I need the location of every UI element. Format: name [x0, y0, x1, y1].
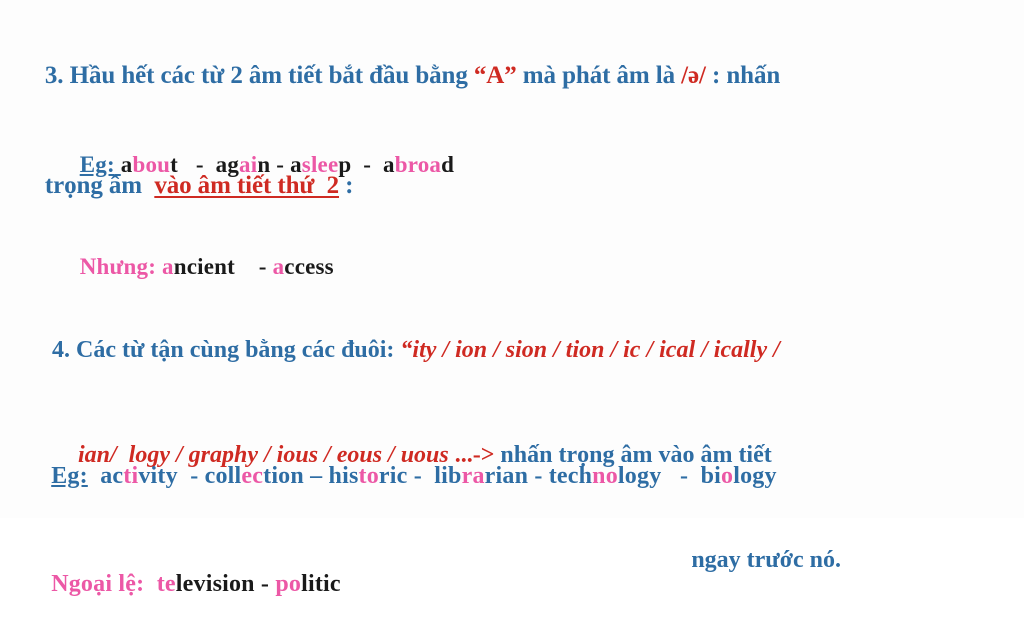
section-4-line-1: 4. Các từ tận cùng bằng các đuôi: “ity /…: [16, 298, 1016, 403]
section-3-text-a: Hầu hết các từ 2 âm tiết bắt đầu bằng: [63, 62, 473, 89]
section-4-example-words-1: activity - collection – historic - libra…: [100, 463, 776, 489]
eg-label-2: Eg:: [51, 463, 88, 489]
text-run: -: [178, 152, 216, 177]
text-run: p: [338, 152, 351, 177]
section-3-example-words-2: ancient - access: [162, 254, 334, 279]
text-run: -: [351, 152, 383, 177]
text-run: lib: [434, 463, 461, 489]
text-run: po: [275, 571, 301, 597]
text-run: ra: [462, 463, 485, 489]
section-3-text-c: : nhấn: [706, 62, 780, 89]
text-run: ric: [379, 463, 408, 489]
text-run: logy: [618, 463, 661, 489]
ngoaile-label: Ngoại lệ:: [51, 571, 144, 597]
nhung-label: Nhưng:: [80, 254, 156, 279]
section-4-number: 4.: [52, 337, 70, 363]
section-4-text-a: Các từ tận cùng bằng các đuôi:: [70, 337, 400, 363]
text-run: te: [157, 571, 176, 597]
section-3-examples: Eg: about - again - asleep - abroad Nhưn…: [44, 114, 454, 318]
text-run: d: [441, 152, 454, 177]
text-run: -: [178, 463, 205, 489]
section-3-number: 3.: [45, 62, 64, 89]
text-run: his: [329, 463, 359, 489]
eg-label-1: Eg:: [80, 152, 115, 177]
text-run: –: [304, 463, 329, 489]
section-3-text-b: mà phát âm là: [517, 62, 681, 89]
text-run: ccess: [284, 254, 334, 279]
text-run: logy: [733, 463, 776, 489]
text-run: a: [162, 254, 174, 279]
text-run: ac: [100, 463, 123, 489]
section-3-example-row-1: Eg: about - again - asleep - abroad: [44, 114, 454, 216]
text-run: -: [270, 152, 290, 177]
section-4-examples: Eg: activity - collection – historic - l…: [14, 422, 777, 638]
text-run: -: [235, 254, 273, 279]
slide-page: 3. Hầu hết các từ 2 âm tiết bắt đầu bằng…: [0, 0, 1024, 518]
text-run: ti: [123, 463, 138, 489]
text-run: a: [273, 254, 285, 279]
text-run: slee: [302, 152, 339, 177]
section-3-example-words-1: about - again - asleep - abroad: [121, 152, 454, 177]
text-run: bou: [132, 152, 170, 177]
text-run: -: [255, 571, 276, 597]
text-run: a: [121, 152, 133, 177]
text-run: -: [408, 463, 435, 489]
text-run: tech: [549, 463, 592, 489]
text-run: o: [721, 463, 733, 489]
text-run: coll: [205, 463, 242, 489]
section-4-example-row-1: Eg: activity - collection – historic - l…: [14, 422, 777, 530]
text-run: bi: [701, 463, 721, 489]
text-run: -: [661, 463, 700, 489]
text-run: a: [290, 152, 302, 177]
text-run: ec: [241, 463, 263, 489]
section-4-example-words-2: television - politic: [157, 571, 341, 597]
text-run: ncient: [174, 254, 235, 279]
text-run: ai: [239, 152, 257, 177]
text-run: a: [383, 152, 395, 177]
text-run: ag: [216, 152, 239, 177]
text-run: to: [359, 463, 379, 489]
text-run: -: [528, 463, 549, 489]
section-4-example-row-2: Ngoại lệ: television - politic: [14, 530, 777, 638]
text-run: no: [592, 463, 618, 489]
section-3-quoted-letter: “A”: [474, 62, 517, 89]
text-run: tion: [263, 463, 304, 489]
text-run: vity: [138, 463, 177, 489]
section-3-phoneme: /ə/: [681, 62, 706, 89]
text-run: levision: [176, 571, 255, 597]
text-run: rian: [485, 463, 528, 489]
text-run: n: [257, 152, 270, 177]
text-run: litic: [301, 571, 341, 597]
text-run: t: [170, 152, 178, 177]
text-run: broa: [395, 152, 441, 177]
section-4-suffix-list-1: “ity / ion / sion / tion / ic / ical / i…: [400, 337, 779, 363]
